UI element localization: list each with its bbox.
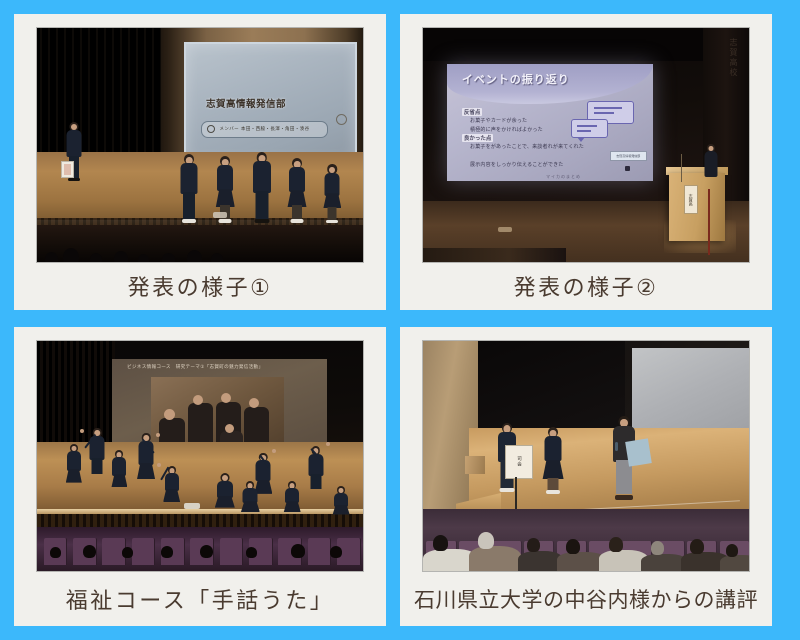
performer-figure — [308, 446, 324, 488]
performer-figure — [66, 444, 81, 484]
student-figure — [252, 152, 271, 222]
slide-bullet: 積極的に声をかければよかった — [470, 126, 543, 133]
slide-marker — [625, 166, 630, 171]
photo-card-2[interactable]: 志賀高校 イベントの振り返り 反省点 お菓子やカードが余った 積極的に声をかけれ… — [400, 14, 772, 310]
podium-label: 志賀高 — [684, 185, 698, 214]
performer-figure — [242, 481, 258, 511]
slide-title-1: 志賀高情報発信部 — [206, 96, 286, 110]
projector — [184, 503, 200, 509]
side-lectern — [465, 456, 485, 474]
lightbulb-icon — [336, 114, 347, 125]
photo-4: 司会 — [423, 341, 749, 571]
performer-figure — [216, 473, 233, 507]
performer-figure — [138, 433, 154, 479]
slide-footer: マイカのまとめ — [546, 174, 581, 180]
photo-3: ビジネス情報コース 研究テーマ①「志賀町の魅力発信活動」 — [37, 341, 363, 571]
slide-corner-tag: 志賀高情報発信部 — [610, 151, 647, 161]
wall-vertical-text: 志賀高校 — [728, 38, 739, 78]
slide-title-3: ビジネス情報コース 研究テーマ①「志賀町の魅力発信活動」 — [127, 364, 263, 370]
photo-card-3[interactable]: ビジネス情報コース 研究テーマ①「志賀町の魅力発信活動」 — [14, 327, 386, 626]
slide-search-bar: メンバー 本田・西脇・長澤・角田・湊谷 — [201, 121, 328, 138]
microphone-icon — [615, 442, 618, 451]
speaker-notes — [625, 438, 651, 467]
slide-search-text: メンバー 本田・西脇・長澤・角田・湊谷 — [219, 126, 309, 132]
performer-figure — [164, 466, 179, 502]
audience-seating-3 — [37, 527, 363, 571]
mc-sign: 司会 — [505, 445, 533, 479]
student-figure — [288, 158, 306, 222]
projection-screen-1: 志賀高情報発信部 メンバー 本田・西脇・長澤・角田・湊谷 — [184, 42, 358, 163]
presenter-figure — [704, 144, 718, 178]
stage-floor — [37, 152, 363, 222]
caption-1: 発表の様子① — [14, 262, 386, 310]
certificate — [61, 161, 74, 178]
podium: 志賀高 — [669, 173, 724, 241]
caption-2: 発表の様子② — [400, 262, 772, 310]
microphone-stand — [681, 154, 683, 182]
photo-gallery: 志賀高情報発信部 メンバー 本田・西脇・長澤・角田・湊谷 — [0, 0, 800, 640]
search-icon — [207, 125, 215, 133]
audience-silhouettes-1 — [37, 222, 239, 262]
caption-4: 石川県立大学の中谷内様からの講評 — [400, 571, 772, 626]
caption-3: 福祉コース「手話うた」 — [14, 571, 386, 626]
audience-foreground-4 — [423, 509, 749, 571]
student-figure — [324, 164, 341, 222]
photo-card-4[interactable]: 司会 — [400, 327, 772, 626]
photo-1: 志賀高情報発信部 メンバー 本田・西脇・長澤・角田・湊谷 — [37, 28, 363, 262]
ceiling-shadow — [423, 28, 749, 61]
slide-bullet: お菓子やカードが余った — [470, 117, 527, 124]
slide-heading-2: 良かった点 — [462, 134, 494, 142]
performer-figure — [334, 486, 349, 514]
slide-heading-1: 反省点 — [462, 108, 483, 116]
slide-bullet: お菓子をがあったことで、来談者れが来てくれた — [470, 144, 589, 152]
mc-sign-stand — [515, 477, 517, 512]
projection-screen-2: イベントの振り返り 反省点 お菓子やカードが余った 積極的に声をかければよかった… — [447, 64, 652, 181]
student-figure — [180, 154, 198, 222]
slide-title-2: イベントの振り返り — [462, 71, 570, 87]
stage-object — [498, 227, 512, 232]
mc-student-figure — [544, 427, 563, 495]
photo-card-1[interactable]: 志賀高情報発信部 メンバー 本田・西脇・長澤・角田・湊谷 — [14, 14, 386, 310]
photo-2: 志賀高校 イベントの振り返り 反省点 お菓子やカードが余った 積極的に声をかけれ… — [423, 28, 749, 262]
performer-figure — [89, 428, 105, 472]
slide-bullet: 展示内容をしっかり伝えることができた — [470, 161, 563, 168]
podium-support — [708, 189, 710, 255]
performer-figure — [285, 481, 300, 511]
audience-shadow-2 — [423, 248, 566, 262]
performer-figure — [112, 450, 127, 488]
speech-bubble-icon — [571, 119, 608, 137]
stage-monitor — [213, 212, 227, 218]
